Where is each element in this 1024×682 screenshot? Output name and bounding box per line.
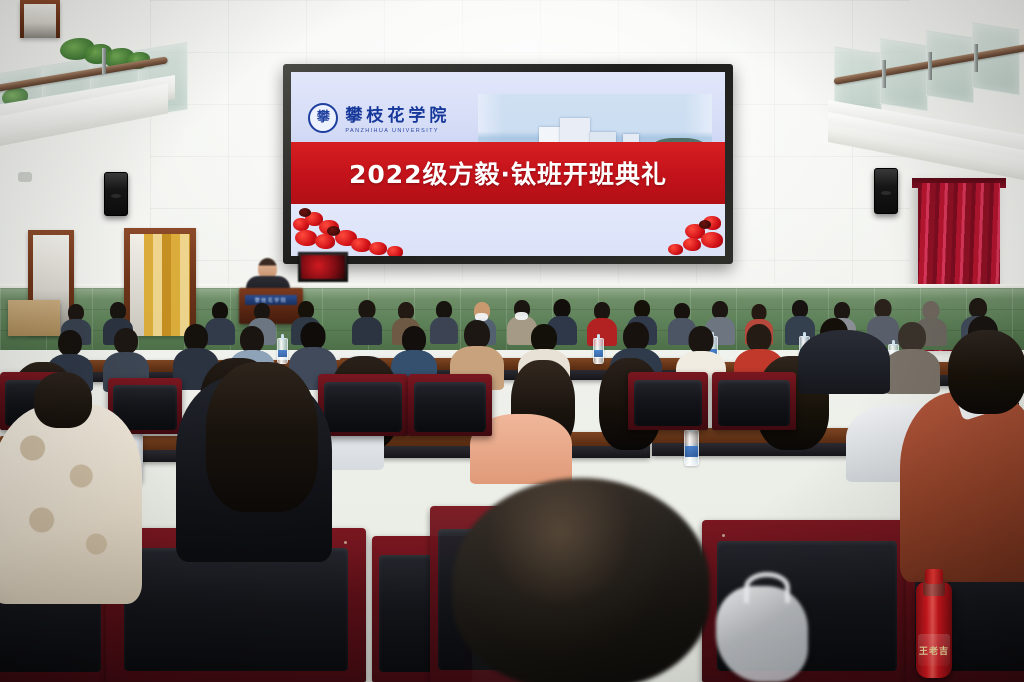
foreground-person-head — [452, 478, 710, 682]
balcony-left — [0, 0, 300, 190]
audience-person-orange-sweater — [900, 392, 1024, 582]
chair-mid — [408, 374, 492, 436]
university-name-en: PANZHIHUA UNIVERSITY — [345, 128, 450, 134]
led-screen: 攀 攀枝花学院 PANZHIHUA UNIVERSITY 2022级方毅·钛班开… — [291, 72, 725, 256]
chair-mid — [628, 372, 708, 430]
stage-monitor — [298, 252, 348, 282]
audience-person-patterned-coat — [0, 404, 142, 604]
university-seal-icon: 攀 — [308, 103, 338, 133]
railing-post — [974, 44, 978, 72]
audience-long-hair — [206, 362, 318, 512]
chair-mid — [318, 374, 408, 436]
beverage-bottle: 王老吉 — [916, 582, 952, 678]
balcony-door-frame-left — [20, 0, 60, 38]
balcony-right — [824, 0, 1024, 190]
plastic-bag — [716, 586, 808, 682]
led-screen-bezel: 攀 攀枝花学院 PANZHIHUA UNIVERSITY 2022级方毅·钛班开… — [283, 64, 733, 264]
wall-speaker-right — [874, 168, 898, 214]
balcony-door-left — [24, 4, 56, 38]
railing-post — [882, 60, 886, 88]
university-logo: 攀 攀枝花学院 PANZHIHUA UNIVERSITY — [308, 101, 450, 134]
wall-speaker-left — [104, 172, 128, 216]
railing-post — [928, 52, 932, 80]
beverage-bottle-label: 王老吉 — [918, 634, 950, 667]
wall-sensor-icon — [18, 172, 32, 182]
audience-head — [34, 372, 92, 428]
railing-post — [102, 48, 106, 74]
university-name-cn: 攀枝花学院 — [345, 101, 450, 126]
chair-mid — [712, 372, 796, 430]
banner-footer-band — [291, 204, 725, 256]
audience-clothing — [798, 330, 890, 394]
lecture-hall-photo: 攀 攀枝花学院 PANZHIHUA UNIVERSITY 2022级方毅·钛班开… — [0, 0, 1024, 682]
audience-head — [948, 330, 1024, 414]
banner-title-band: 2022级方毅·钛班开班典礼 — [291, 142, 725, 204]
ceremony-title: 2022级方毅·钛班开班典礼 — [349, 155, 667, 191]
